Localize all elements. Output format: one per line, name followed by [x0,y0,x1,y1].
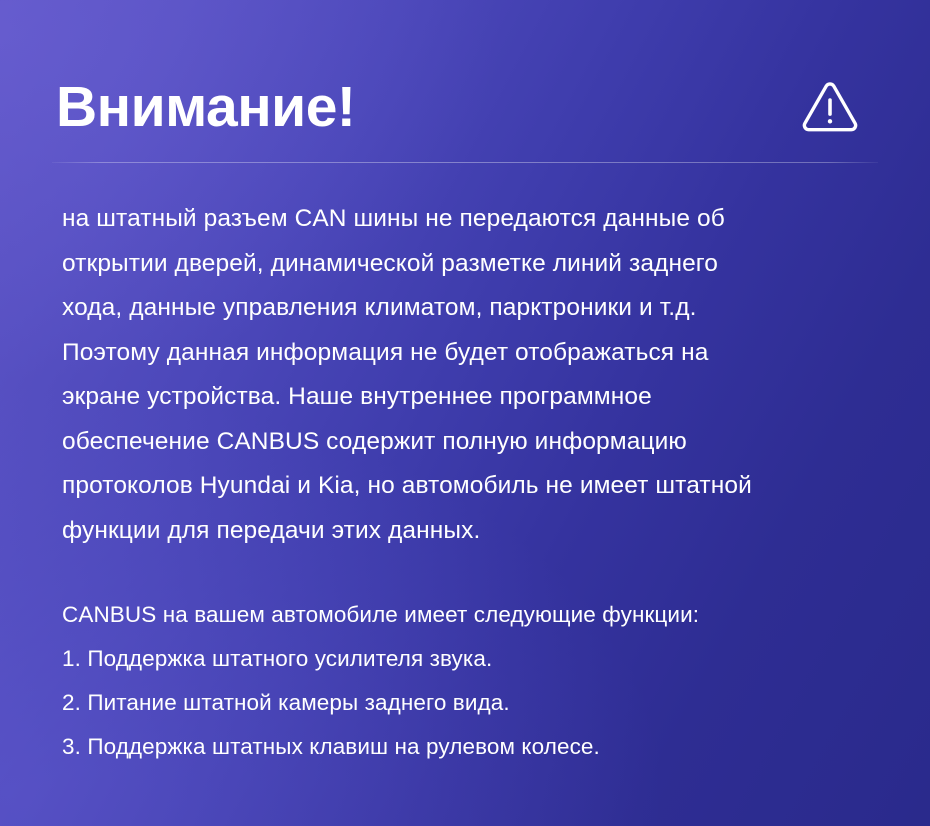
notice-line: обеспечение CANBUS содержит полную инфор… [62,420,878,465]
notice-line: функции для передачи этих данных. [62,509,878,554]
list-item: 3. Поддержка штатных клавиш на рулевом к… [62,725,878,769]
warning-triangle-icon [800,78,860,138]
notice-line: хода, данные управления климатом, парктр… [62,286,878,331]
banner-header: Внимание! [0,0,930,162]
features-list: 1. Поддержка штатного усилителя звука. 2… [62,637,878,769]
notice-paragraph: на штатный разъем CAN шины не передаются… [62,197,878,553]
notice-line: Поэтому данная информация не будет отобр… [62,331,878,376]
banner-content: на штатный разъем CAN шины не передаются… [0,163,930,769]
notice-line: экране устройства. Наше внутреннее прогр… [62,375,878,420]
warning-banner: Внимание! на штатный разъем CAN шины не … [0,0,930,826]
notice-line: протоколов Hyundai и Kia, но автомобиль … [62,464,878,509]
list-item: 2. Питание штатной камеры заднего вида. [62,681,878,725]
notice-line: открытии дверей, динамической разметке л… [62,242,878,287]
page-title: Внимание! [56,79,355,136]
features-section: CANBUS на вашем автомобиле имеет следующ… [62,593,878,769]
notice-line: на штатный разъем CAN шины не передаются… [62,197,878,242]
features-lead: CANBUS на вашем автомобиле имеет следующ… [62,593,878,637]
list-item: 1. Поддержка штатного усилителя звука. [62,637,878,681]
